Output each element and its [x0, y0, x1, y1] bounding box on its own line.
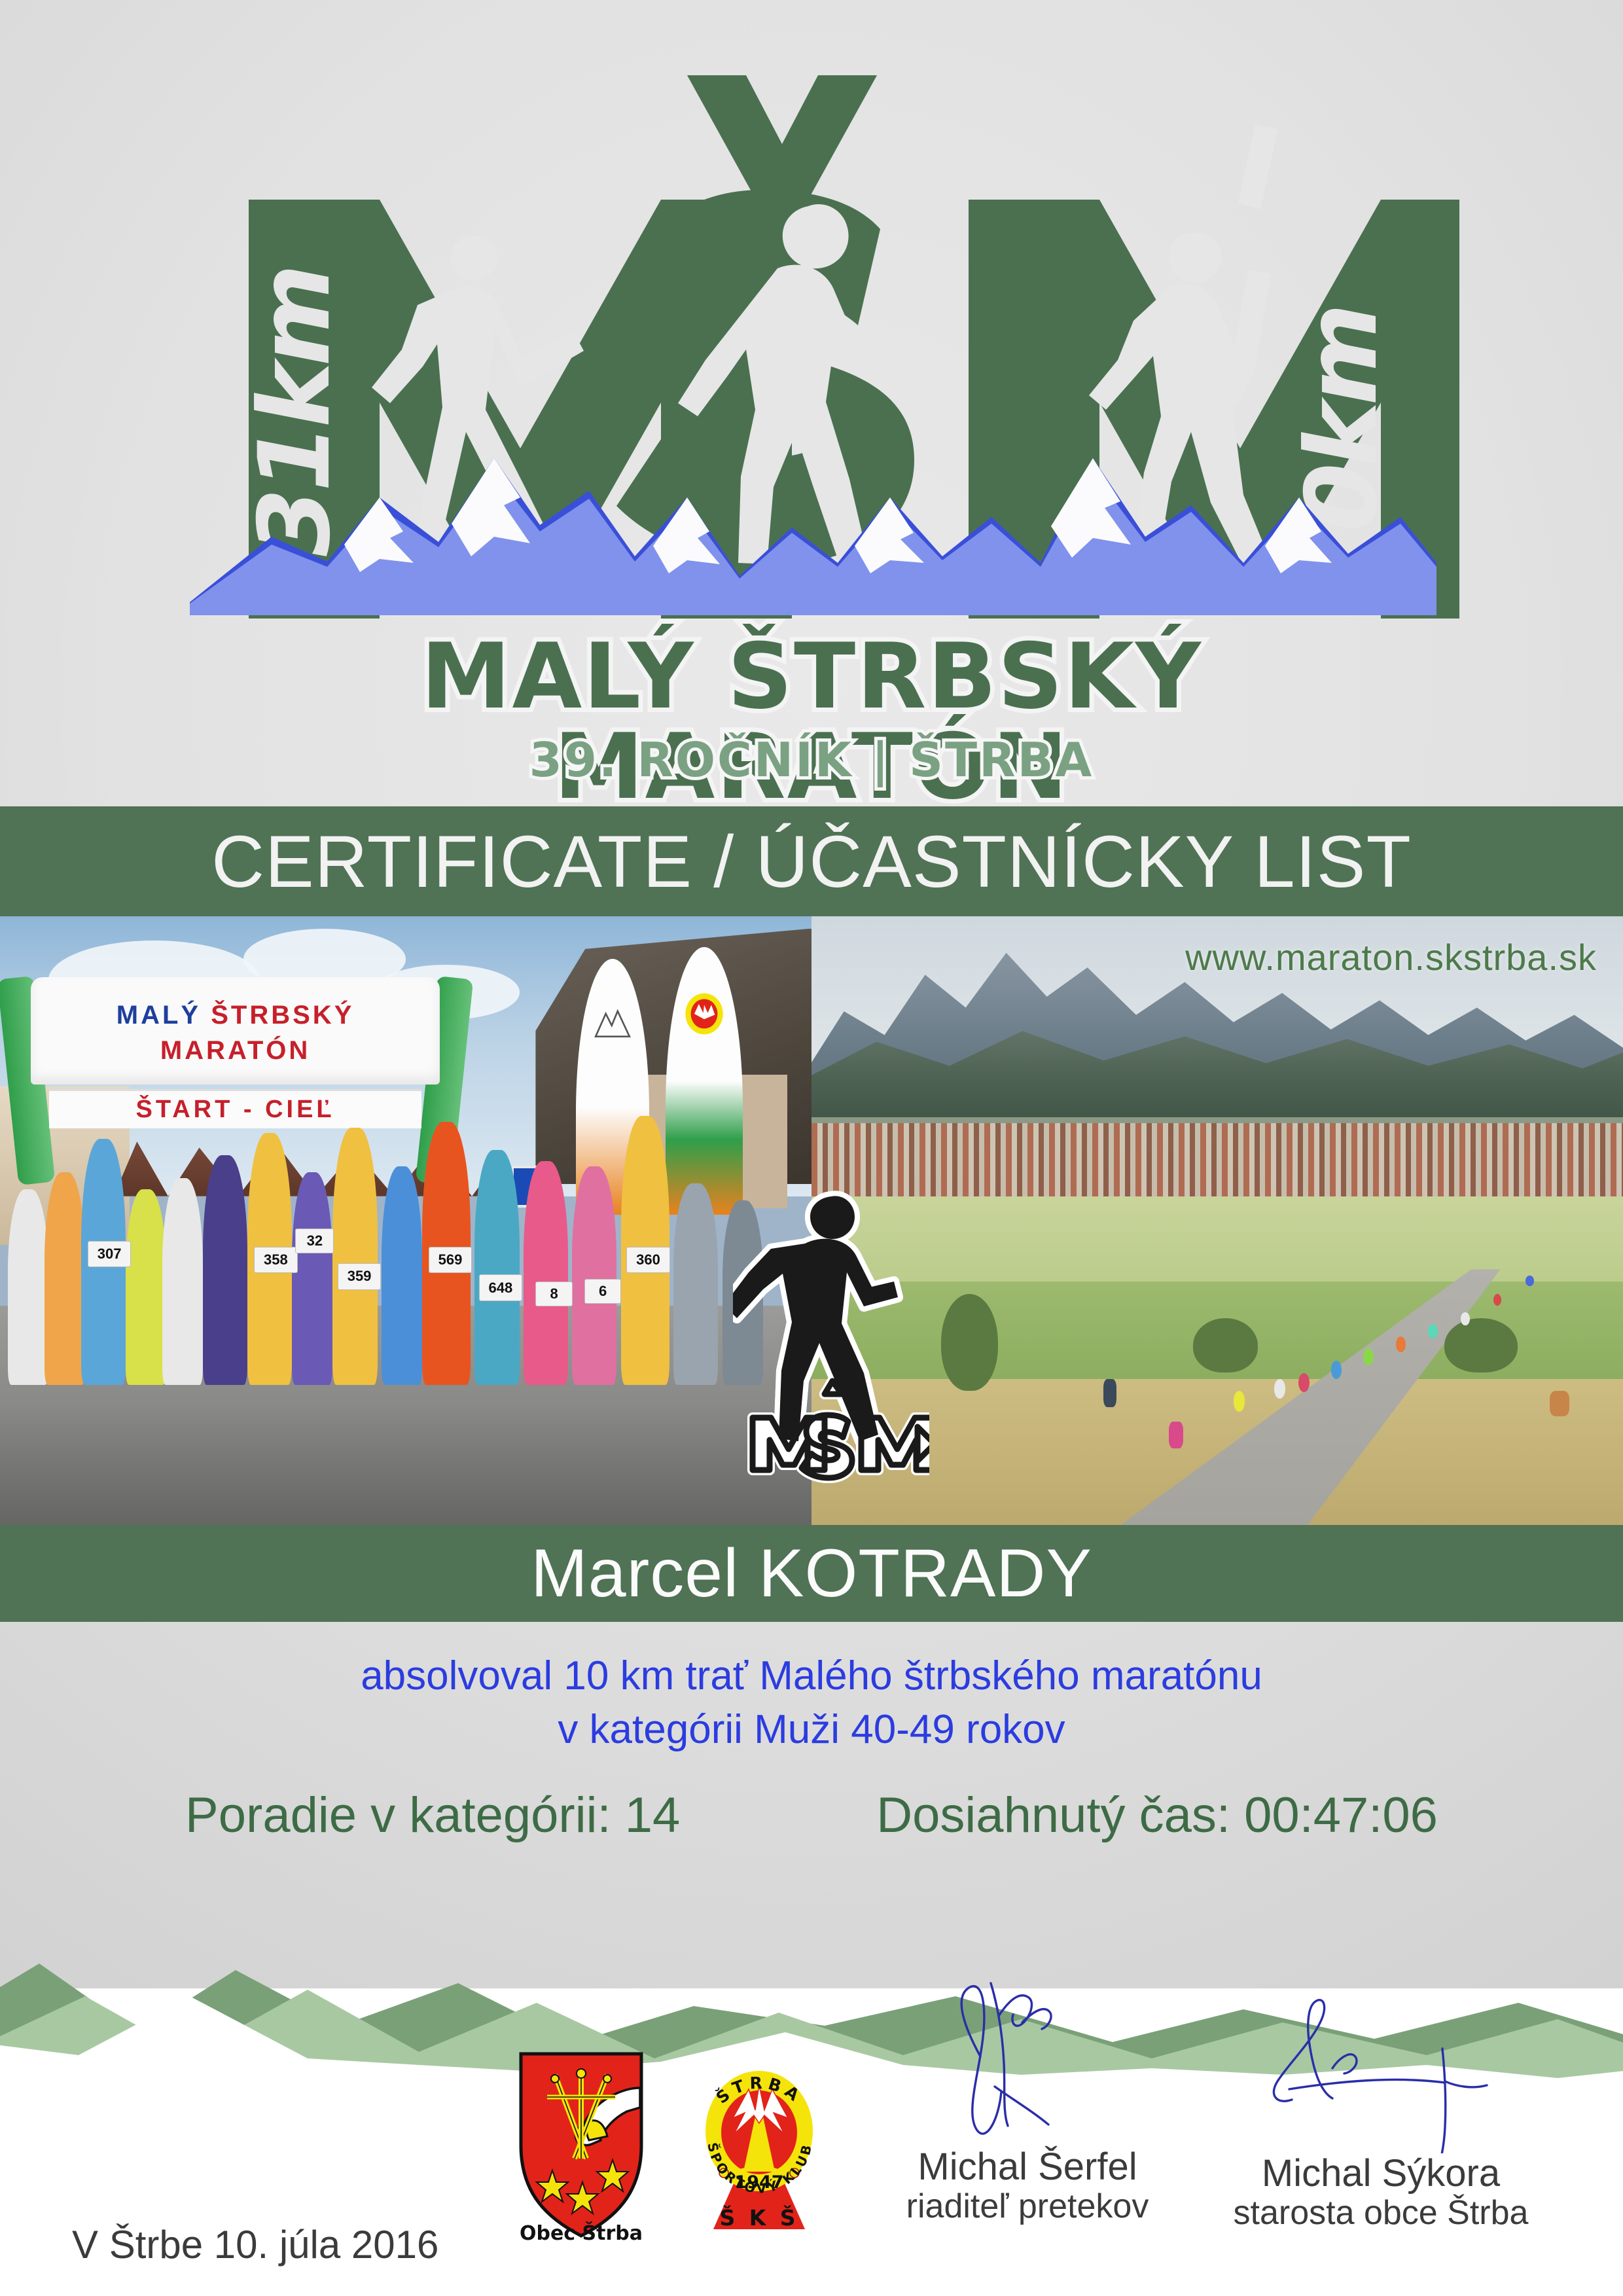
runner — [45, 1172, 85, 1385]
runner-dot — [1493, 1294, 1501, 1306]
signature-ink-mayor — [1198, 1983, 1564, 2153]
category-rank: Poradie v kategórii: 14 — [185, 1787, 680, 1844]
finish-time: Dosiahnutý čas: 00:47:06 — [876, 1787, 1438, 1844]
signature-block-mayor: Michal Sýkora starosta obce Štrba — [1198, 1983, 1564, 2232]
runner-bib: 6 — [584, 1279, 622, 1304]
runner — [572, 1166, 616, 1385]
runner-dot — [1234, 1391, 1245, 1412]
runner — [162, 1178, 203, 1386]
bush — [1193, 1318, 1258, 1373]
bush — [1444, 1318, 1518, 1373]
runner — [524, 1161, 568, 1385]
certificate-title: CERTIFICATE / ÚČASTNÍCKY LIST — [211, 819, 1412, 904]
distance-left-label: 31km — [238, 268, 352, 556]
runner-bib: 569 — [429, 1247, 472, 1274]
photo-start-line: MALÝ ŠTRBSKÝ MARATÓN ŠTART - CIEĽ — [0, 916, 811, 1525]
arch-title-line1: MALÝ ŠTRBSKÝ — [31, 1001, 440, 1030]
tatry-emblem-icon — [592, 995, 634, 1051]
runner-bib: 648 — [479, 1274, 522, 1301]
runner — [292, 1172, 332, 1385]
certificate-page: 31km — [0, 0, 1623, 2296]
runner-dot — [1331, 1361, 1342, 1379]
website-url[interactable]: www.maraton.skstrba.sk — [1185, 936, 1597, 978]
spectator — [1103, 1379, 1116, 1407]
runner — [474, 1150, 519, 1385]
runner-dot — [1461, 1312, 1470, 1325]
runner-dot — [1274, 1379, 1285, 1399]
runner-dot — [1525, 1276, 1533, 1287]
signature-role-director: riaditeľ pretekov — [844, 2188, 1211, 2225]
arch-word-strbsky: ŠTRBSKÝ — [211, 1001, 354, 1030]
msm-logo-graphic: 31km — [164, 39, 1459, 700]
issue-date: V Štrbe 10. júla 2016 — [72, 2222, 438, 2267]
svg-text:31km: 31km — [238, 268, 352, 556]
runner-dot — [1396, 1336, 1406, 1352]
description-line-1: absolvoval 10 km trať Malého štrbského m… — [0, 1649, 1623, 1703]
signature-block-director: Michal Šerfel riaditeľ pretekov — [844, 1977, 1211, 2225]
arch-banner-top: MALÝ ŠTRBSKÝ MARATÓN — [31, 977, 440, 1085]
runner-bib: 32 — [295, 1229, 334, 1253]
certificate-title-bar: CERTIFICATE / ÚČASTNÍCKY LIST — [0, 806, 1623, 916]
results-row: Poradie v kategórii: 14 Dosiahnutý čas: … — [0, 1787, 1623, 1844]
runner-bib: 8 — [535, 1282, 573, 1306]
runner — [203, 1155, 247, 1385]
sks-club-logo-icon: ŠTRBA ŠPORTOVÝ KLUB 1947 Š K Š — [692, 2047, 827, 2237]
village-roofs — [811, 1123, 1623, 1202]
signature-ink-director — [844, 1977, 1211, 2147]
description-line-2: v kategórii Muži 40-49 rokov — [0, 1703, 1623, 1757]
participant-name: Marcel KOTRADY — [531, 1535, 1092, 1613]
runner — [332, 1128, 377, 1386]
msm-runner-sticker — [733, 1178, 929, 1486]
cow — [1550, 1391, 1569, 1416]
msm-logo: 31km — [164, 39, 1459, 700]
photo-countryside: www.maraton.skstrba.sk — [811, 916, 1623, 1525]
participant-description: absolvoval 10 km trať Malého štrbského m… — [0, 1649, 1623, 1757]
signature-name-director: Michal Šerfel — [844, 2147, 1211, 2188]
runner-bib: 307 — [88, 1241, 131, 1268]
sks-year: 1947 — [734, 2172, 783, 2193]
runner — [382, 1166, 422, 1385]
signature-role-mayor: starosta obce Štrba — [1198, 2195, 1564, 2232]
runner-bib: 359 — [338, 1263, 381, 1290]
logo-subtitle: 39. ROČNÍK | ŠTRBA — [164, 736, 1459, 783]
runner — [673, 1183, 718, 1385]
field-upper — [811, 1196, 1623, 1294]
arch-word-maly: MALÝ — [116, 1001, 201, 1030]
participant-name-bar: Marcel KOTRADY — [0, 1525, 1623, 1622]
runner-crowd: 307 358 32 359 569 648 8 6 360 — [0, 1105, 811, 1385]
arch-title-line2: MARATÓN — [31, 1036, 440, 1066]
signature-name-mayor: Michal Sýkora — [1198, 2153, 1564, 2195]
sks-emblem-icon — [682, 984, 726, 1043]
obec-strba-crest-icon: Obec Štrba — [509, 2047, 653, 2244]
runner-bib: 358 — [254, 1247, 297, 1274]
header-logo-block: 31km — [0, 0, 1623, 800]
sks-bottom-text: Š K Š — [719, 2204, 798, 2231]
runner — [126, 1189, 166, 1385]
obec-crest-caption: Obec Štrba — [520, 2221, 643, 2244]
road-shadow — [0, 1403, 811, 1525]
tree — [941, 1294, 998, 1391]
runner-bib: 360 — [626, 1247, 669, 1274]
runner-dot — [1169, 1422, 1183, 1448]
runner — [8, 1189, 48, 1385]
